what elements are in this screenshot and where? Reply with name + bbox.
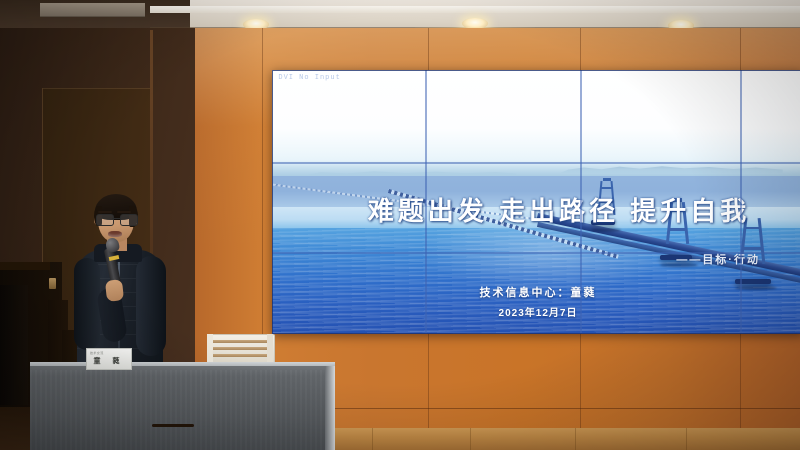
slide-background-image: 难题出发 走出路径 提升自我 ——目标·行动 技术信息中心：童蕤 2023年12… xyxy=(272,70,800,334)
video-wall-bezel-horizontal-2 xyxy=(272,252,800,254)
video-wall-bezel-vertical-1 xyxy=(425,70,427,334)
chair-slat-3 xyxy=(213,354,269,357)
chair-slat-2 xyxy=(213,347,269,350)
left-foreground-equipment xyxy=(0,285,28,405)
floor-plank-1 xyxy=(372,428,373,450)
video-wall-bezel-horizontal-1 xyxy=(272,162,800,164)
ceiling-cornice xyxy=(150,6,800,13)
wall-switch[interactable] xyxy=(49,278,56,289)
chair-slat-1 xyxy=(213,340,269,343)
floor-plank-2 xyxy=(470,428,471,450)
chair-post-left xyxy=(207,334,213,364)
name-card: 技术交流 童 蕤 xyxy=(86,348,132,370)
video-wall-bezel-vertical-2 xyxy=(580,70,582,334)
ceiling-vent xyxy=(40,3,145,17)
name-card-header: 技术交流 xyxy=(90,351,104,355)
lectern-top xyxy=(0,262,50,270)
chair-back xyxy=(207,334,275,364)
speaker-arm-left xyxy=(74,258,100,350)
floor-plank-4 xyxy=(686,428,687,450)
video-wall-bezel-vertical-3 xyxy=(740,70,742,334)
video-wall[interactable]: 难题出发 走出路径 提升自我 ——目标·行动 技术信息中心：童蕤 2023年12… xyxy=(272,70,800,334)
speaker-brow-right xyxy=(117,211,131,213)
table-drape xyxy=(30,370,330,450)
name-card-name: 童 蕤 xyxy=(87,356,131,366)
chair-post-right xyxy=(267,334,273,364)
slide-date: 2023年12月7日 xyxy=(272,304,800,319)
display-osd-label: DVI No Input xyxy=(278,74,340,82)
slide-title: 难题出发 走出路径 提升自我 xyxy=(368,191,800,228)
speaker-hand xyxy=(105,279,124,302)
slide-presenter: 技术信息中心：童蕤 xyxy=(272,284,800,300)
floor-cable xyxy=(152,424,194,427)
speaker-brow-left xyxy=(98,211,112,213)
floor-plank-3 xyxy=(575,428,576,450)
glasses-icon xyxy=(96,214,137,224)
presentation-room-photo: 难题出发 走出路径 提升自我 ——目标·行动 技术信息中心：童蕤 2023年12… xyxy=(0,0,800,450)
table-right-edge xyxy=(325,366,335,450)
speaker-mouth xyxy=(108,231,122,237)
speaker-arm-right xyxy=(136,256,166,356)
